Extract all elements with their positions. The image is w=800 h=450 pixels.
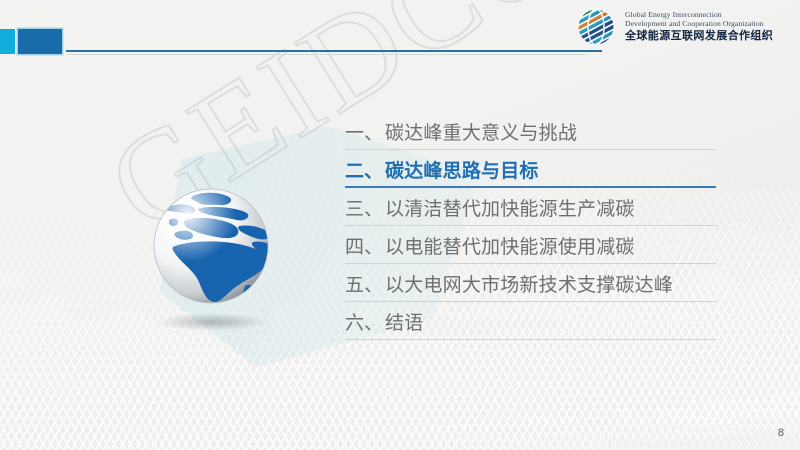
agenda-item-2[interactable]: 二、 碳达峰思路与目标 (345, 150, 715, 188)
agenda-item-5-number: 五、 (345, 270, 383, 297)
header-accent-square-cyan (0, 29, 15, 54)
agenda-item-3[interactable]: 三、 以清洁替代加快能源生产减碳 (345, 188, 715, 226)
logo-chinese-name: 全球能源互联网发展合作组织 (625, 30, 773, 43)
agenda-item-6[interactable]: 六、 结语 (345, 302, 715, 340)
agenda-item-1-number: 一、 (345, 118, 383, 145)
agenda-item-2-number: 二、 (345, 156, 383, 183)
logo-text-block: Global Energy Interconnection Developmen… (625, 11, 773, 43)
agenda-item-2-label: 碳达峰思路与目标 (385, 156, 539, 183)
header-accent-square-blue (18, 29, 62, 54)
globe-illustration (141, 182, 293, 350)
agenda-list: 一、 碳达峰重大意义与挑战 二、 碳达峰思路与目标 三、 以清洁替代加快能源生产… (345, 112, 715, 340)
agenda-item-6-separator (345, 339, 716, 340)
agenda-item-5[interactable]: 五、 以大电网大市场新技术支撑碳达峰 (345, 264, 715, 302)
page-number: 8 (778, 427, 784, 439)
logo-english-line2: Development and Cooperation Organization (625, 20, 773, 29)
agenda-item-3-number: 三、 (345, 194, 383, 221)
agenda-item-3-label: 以清洁替代加快能源生产减碳 (385, 194, 635, 221)
agenda-item-6-number: 六、 (345, 308, 383, 335)
header-divider-line-soft (66, 54, 586, 55)
agenda-item-4[interactable]: 四、 以电能替代加快能源使用减碳 (345, 226, 715, 264)
agenda-item-4-label: 以电能替代加快能源使用减碳 (385, 232, 635, 259)
header-divider-line (66, 50, 602, 52)
slide-canvas: GEIDCO (0, 0, 800, 450)
agenda-item-6-label: 结语 (385, 308, 423, 335)
agenda-item-1-label: 碳达峰重大意义与挑战 (385, 118, 577, 145)
organization-logo: Global Energy Interconnection Developmen… (575, 6, 773, 48)
agenda-item-1[interactable]: 一、 碳达峰重大意义与挑战 (345, 112, 715, 150)
globe-stripes-logo-icon (575, 6, 617, 48)
agenda-item-5-label: 以大电网大市场新技术支撑碳达峰 (385, 270, 673, 297)
agenda-item-4-number: 四、 (345, 232, 383, 259)
